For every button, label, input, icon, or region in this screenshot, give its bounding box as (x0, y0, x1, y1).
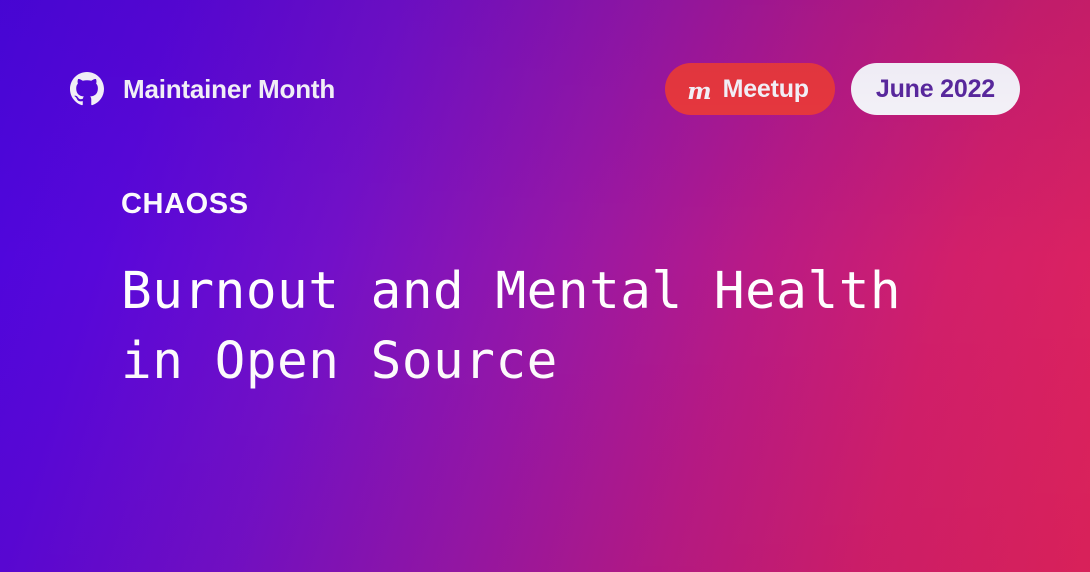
event-title: Burnout and Mental Health in Open Source (121, 257, 1030, 397)
badge-group: m Meetup June 2022 (665, 63, 1020, 115)
event-banner: Maintainer Month m Meetup June 2022 CHAO… (0, 0, 1090, 572)
meetup-badge[interactable]: m Meetup (665, 63, 835, 115)
github-octocat-icon (70, 72, 104, 106)
brand-name: Maintainer Month (123, 76, 335, 102)
organization-label: CHAOSS (121, 190, 1030, 219)
date-badge-label: June 2022 (876, 77, 995, 102)
banner-header: Maintainer Month m Meetup June 2022 (70, 60, 1020, 118)
meetup-m-icon: m (687, 80, 711, 103)
meetup-badge-label: Meetup (723, 77, 809, 102)
brand-lockup: Maintainer Month (70, 72, 335, 106)
date-badge[interactable]: June 2022 (851, 63, 1020, 115)
banner-content: CHAOSS Burnout and Mental Health in Open… (121, 190, 1030, 397)
